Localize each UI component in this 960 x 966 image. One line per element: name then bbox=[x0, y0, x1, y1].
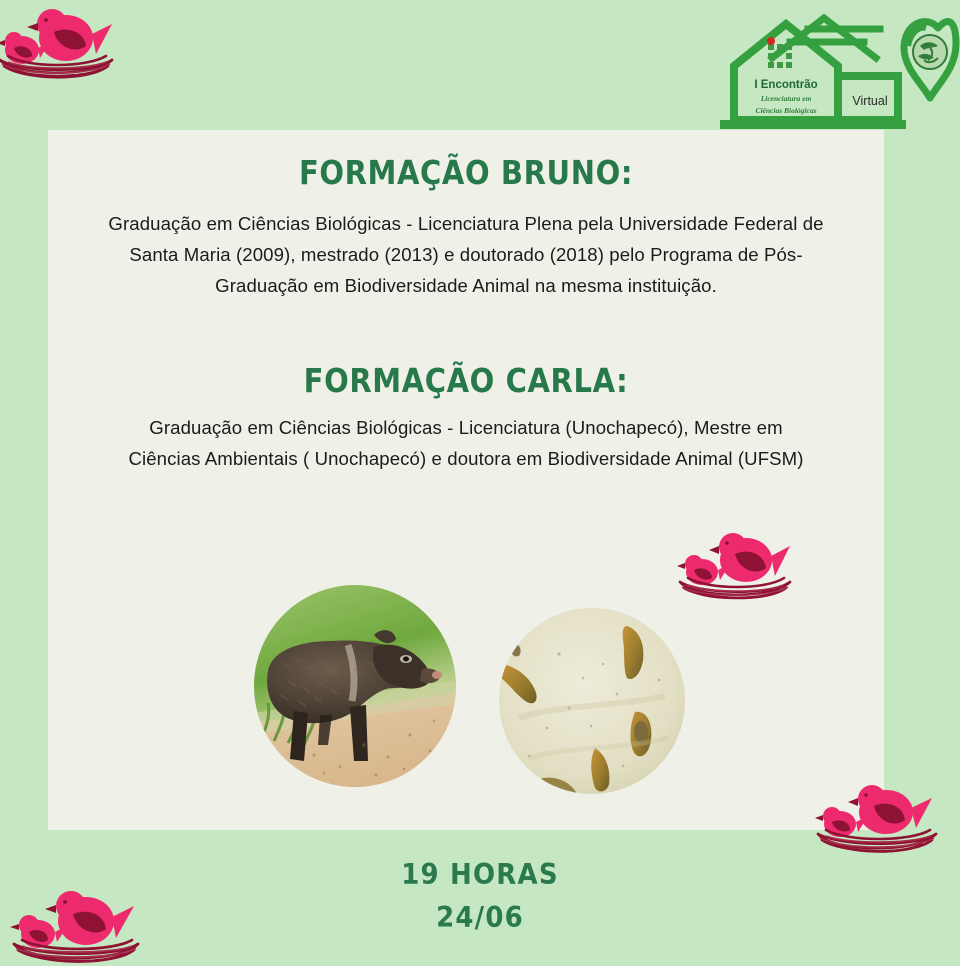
content-card: FORMAÇÃO BRUNO: Graduação em Ciências Bi… bbox=[48, 130, 884, 830]
footer-time: 19 HORAS bbox=[0, 859, 960, 892]
bird-nest-top-left bbox=[0, 0, 120, 82]
logo-subtitle-line1: Licenciatura em bbox=[760, 94, 812, 103]
footer-date: 24/06 bbox=[0, 902, 960, 935]
event-logo: I Encontrão Licenciatura em Ciências Bio… bbox=[712, 2, 960, 134]
logo-subtitle-line2: Ciências Biológicas bbox=[755, 106, 816, 115]
peccary-photo-art bbox=[254, 585, 456, 787]
bird-in-nest-icon bbox=[0, 0, 120, 82]
larvae-photo-art bbox=[499, 608, 685, 794]
poster-canvas: I Encontrão Licenciatura em Ciências Bio… bbox=[0, 0, 960, 960]
logo-ground-bar bbox=[720, 120, 906, 129]
heading-formacao-carla: FORMAÇÃO CARLA: bbox=[48, 362, 884, 400]
logo-artwork: I Encontrão Licenciatura em Ciências Bio… bbox=[712, 2, 960, 134]
logo-title: I Encontrão bbox=[754, 79, 817, 91]
paragraph-formacao-bruno: Graduação em Ciências Biológicas - Licen… bbox=[86, 208, 846, 301]
larvae-photo bbox=[499, 608, 685, 794]
peccary-photo bbox=[254, 585, 456, 787]
globe-leaf-icon bbox=[913, 35, 947, 69]
heading-formacao-bruno: FORMAÇÃO BRUNO: bbox=[48, 154, 884, 192]
paragraph-formacao-carla: Graduação em Ciências Biológicas - Licen… bbox=[126, 412, 806, 474]
logo-virtual-label: Virtual bbox=[852, 94, 887, 108]
